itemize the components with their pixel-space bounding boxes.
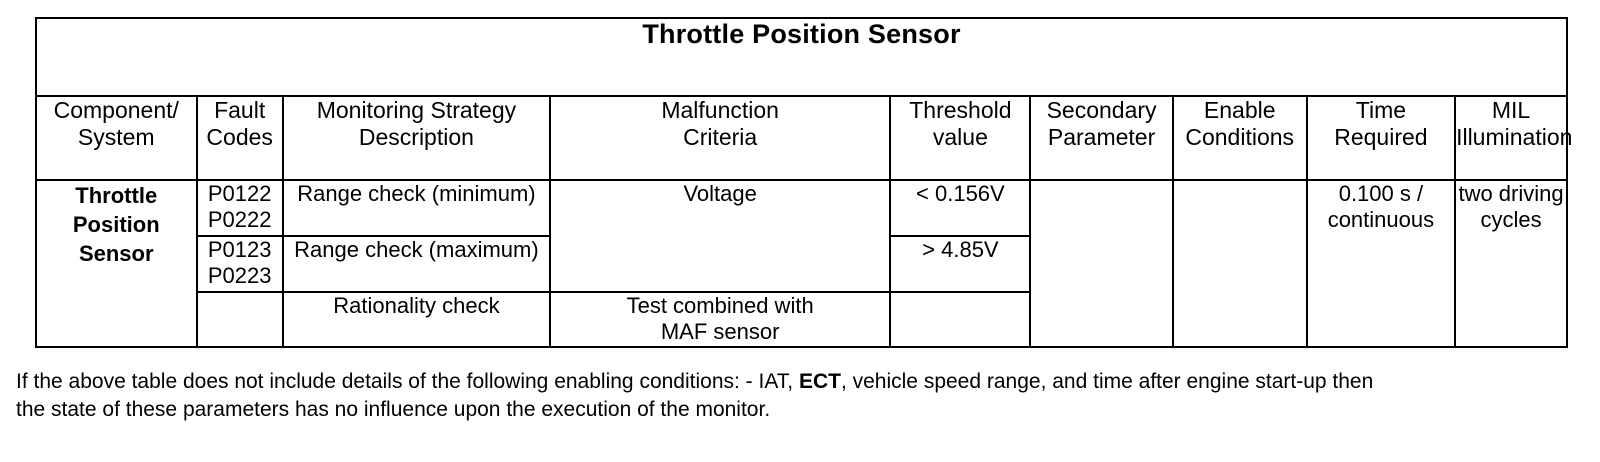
time-required-line-2: continuous <box>1308 207 1454 233</box>
enabling-conditions-note: If the above table does not include deta… <box>16 368 1546 425</box>
header-line-2: Parameter <box>1031 124 1171 151</box>
fault-code-line-2: P0223 <box>198 263 282 289</box>
header-line-1: Fault <box>214 97 265 123</box>
cell-secondary-parameter <box>1030 180 1172 347</box>
fault-code-line-2: P0222 <box>198 207 282 233</box>
note-line-2: the state of these parameters has no inf… <box>16 396 1546 424</box>
cell-strategy-row-2: Range check (maximum) <box>283 236 550 292</box>
header-line-2: Required <box>1308 124 1454 151</box>
cell-fault-codes-row-3 <box>197 292 283 347</box>
malfunction-line-1: Test combined with <box>627 293 814 318</box>
column-header-malfunction-criteria: Malfunction Criteria <box>550 96 890 180</box>
table-title-row: Throttle Position Sensor <box>36 18 1567 96</box>
header-line-1: MIL <box>1492 97 1530 123</box>
header-line-1: Enable <box>1204 97 1276 123</box>
note-ect-emphasis: ECT <box>799 370 841 393</box>
cell-strategy-row-3: Rationality check <box>283 292 550 347</box>
header-line-1: Malfunction <box>661 97 779 123</box>
header-line-2: Criteria <box>551 124 889 151</box>
header-line-1: Time <box>1356 97 1406 123</box>
table-row: Throttle Position Sensor P0122 P0222 Ran… <box>36 180 1567 236</box>
cell-threshold-row-1: < 0.156V <box>890 180 1030 236</box>
column-header-enable-conditions: Enable Conditions <box>1173 96 1307 180</box>
throttle-position-sensor-table: Throttle Position Sensor Component/ Syst… <box>35 17 1568 348</box>
cell-time-required: 0.100 s / continuous <box>1307 180 1455 347</box>
column-header-time-required: Time Required <box>1307 96 1455 180</box>
note-line-1-part-c: , vehicle speed range, and time after en… <box>841 370 1373 393</box>
component-line-2: Position <box>73 212 160 237</box>
column-header-monitoring-strategy-description: Monitoring Strategy Description <box>283 96 550 180</box>
table-title: Throttle Position Sensor <box>36 18 1567 96</box>
header-line-2: value <box>891 124 1029 151</box>
component-line-1: Throttle <box>75 183 157 208</box>
column-header-fault-codes: Fault Codes <box>197 96 283 180</box>
header-line-2: Conditions <box>1174 124 1306 151</box>
mil-line-2: cycles <box>1456 207 1566 233</box>
fault-code-line-1: P0122 <box>208 181 272 206</box>
cell-threshold-row-2: > 4.85V <box>890 236 1030 292</box>
note-line-1-part-a: If the above table does not include deta… <box>16 370 799 393</box>
header-line-1: Component/ <box>54 97 179 123</box>
header-line-2: Description <box>284 124 549 151</box>
mil-line-1: two driving <box>1458 181 1563 206</box>
header-line-2: System <box>37 124 196 151</box>
note-line-1: If the above table does not include deta… <box>16 368 1546 396</box>
cell-strategy-row-1: Range check (minimum) <box>283 180 550 236</box>
cell-malfunction-row-3: Test combined with MAF sensor <box>550 292 890 347</box>
cell-threshold-row-3 <box>890 292 1030 347</box>
cell-mil-illumination: two driving cycles <box>1455 180 1567 347</box>
cell-component-system: Throttle Position Sensor <box>36 180 197 347</box>
header-line-2: Codes <box>198 124 282 151</box>
time-required-line-1: 0.100 s / <box>1339 181 1423 206</box>
cell-fault-codes-row-2: P0123 P0223 <box>197 236 283 292</box>
header-line-1: Threshold <box>909 97 1011 123</box>
header-line-1: Monitoring Strategy <box>317 97 516 123</box>
component-line-3: Sensor <box>79 241 154 266</box>
page-root: Throttle Position Sensor Component/ Syst… <box>0 0 1600 462</box>
header-line-2: Illumination <box>1456 124 1566 151</box>
fault-code-line-1: P0123 <box>208 237 272 262</box>
header-line-1: Secondary <box>1047 97 1157 123</box>
cell-malfunction-row-1: Voltage <box>550 180 890 292</box>
column-header-component-system: Component/ System <box>36 96 197 180</box>
cell-enable-conditions <box>1173 180 1307 347</box>
malfunction-line-2: MAF sensor <box>551 319 889 345</box>
column-header-mil-illumination: MIL Illumination <box>1455 96 1567 180</box>
column-header-secondary-parameter: Secondary Parameter <box>1030 96 1172 180</box>
table-header-row: Component/ System Fault Codes Monitoring… <box>36 96 1567 180</box>
column-header-threshold-value: Threshold value <box>890 96 1030 180</box>
cell-fault-codes-row-1: P0122 P0222 <box>197 180 283 236</box>
